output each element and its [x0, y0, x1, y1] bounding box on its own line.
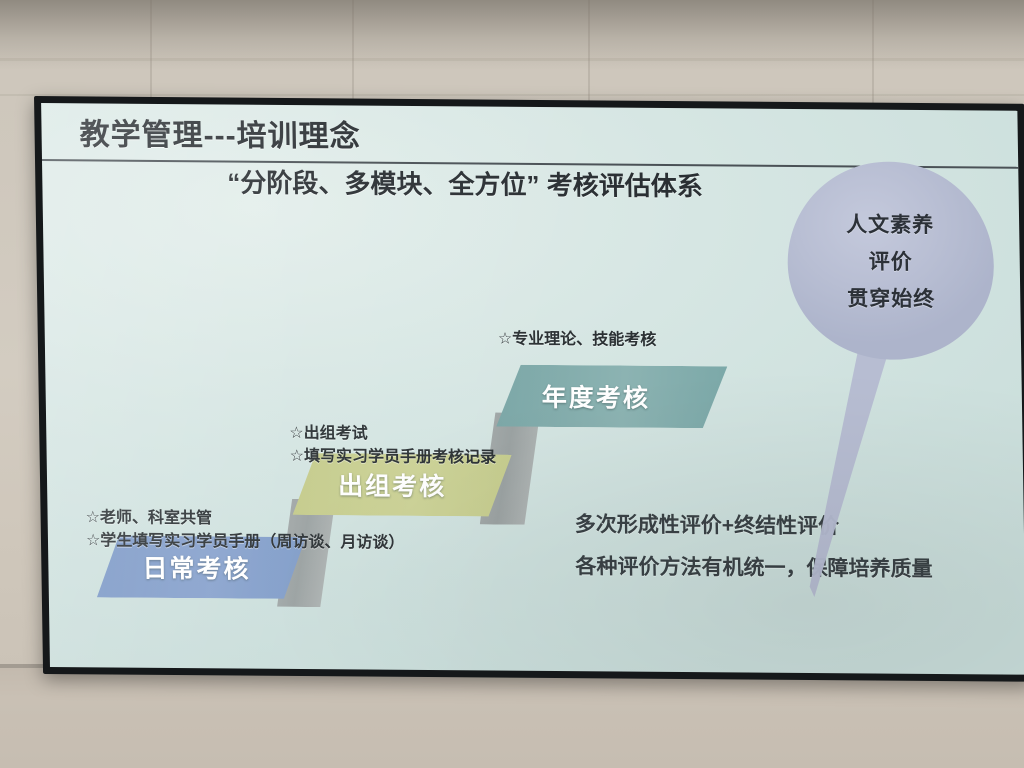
balloon-line-1: 人文素养: [846, 208, 934, 239]
stair-step-annual-label: 年度考核: [541, 378, 650, 415]
stair-step-annual[interactable]: 年度考核: [495, 365, 728, 429]
balloon-line-2: 评价: [868, 246, 912, 276]
stair-step-rotation-label: 出组考核: [338, 466, 447, 503]
speech-balloon-text: 人文素养 评价 贯穿始终: [786, 161, 995, 361]
annotation-rotation-line-1: ☆出组考试: [289, 422, 496, 447]
wall-band: [0, 58, 1024, 61]
summary-line-1: 多次形成性评价+终结性评价: [574, 504, 932, 549]
annotation-rotation: ☆出组考试 ☆填写实习学员手册考核记录: [289, 422, 496, 470]
annotation-rotation-line-2: ☆填写实习学员手册考核记录: [290, 445, 497, 470]
stair-step-daily-label: 日常考核: [142, 549, 251, 586]
stair-step-annual-top: 年度考核: [495, 365, 728, 429]
annotation-daily-line-1: ☆老师、科室共管: [85, 506, 404, 532]
balloon-line-3: 贯穿始终: [847, 282, 935, 313]
lower-wall-panel: [0, 668, 1024, 768]
annotation-annual: ☆专业理论、技能考核: [498, 328, 657, 352]
projection-screen: 教学管理---培训理念 “分阶段、多模块、全方位” 考核评估体系 日常考核 出组…: [34, 96, 1024, 682]
conference-room-photo: 教学管理---培训理念 “分阶段、多模块、全方位” 考核评估体系 日常考核 出组…: [0, 0, 1024, 768]
summary-line-2: 各种评价方法有机统一，保障培养质量: [575, 546, 933, 591]
speech-balloon: 人文素养 评价 贯穿始终: [786, 161, 995, 361]
annotation-daily-line-2: ☆学生填写实习学员手册（周访谈、月访谈）: [86, 529, 405, 555]
annotation-daily: ☆老师、科室共管 ☆学生填写实习学员手册（周访谈、月访谈）: [85, 506, 404, 555]
presentation-slide: 教学管理---培训理念 “分阶段、多模块、全方位” 考核评估体系 日常考核 出组…: [41, 103, 1024, 675]
annotation-annual-line-1: ☆专业理论、技能考核: [498, 328, 657, 352]
wall-band: [0, 94, 1024, 96]
summary-text: 多次形成性评价+终结性评价 各种评价方法有机统一，保障培养质量: [574, 504, 932, 591]
